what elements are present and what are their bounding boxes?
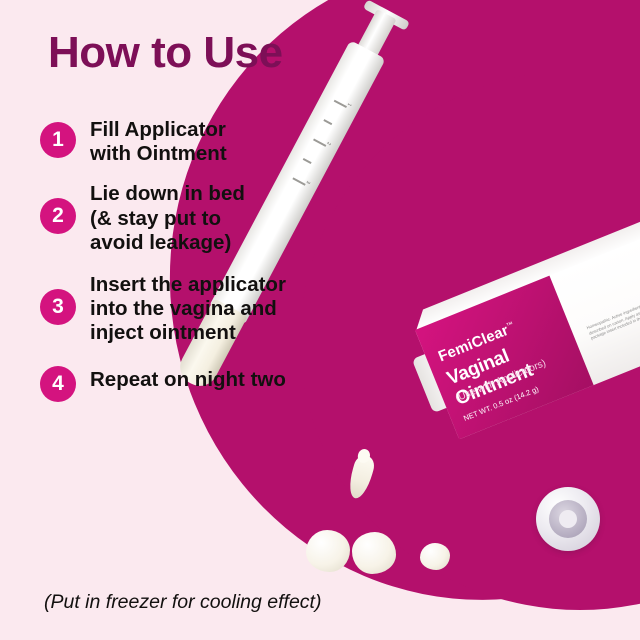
step-text: Repeat on night two — [90, 366, 286, 392]
page-title: How to Use — [48, 28, 283, 78]
step-text: Insert the applicator into the vagina an… — [90, 271, 286, 346]
list-item: 4 Repeat on night two — [40, 366, 370, 402]
step-text: Lie down in bed (& stay put to avoid lea… — [90, 180, 245, 255]
list-item: 2 Lie down in bed (& stay put to avoid l… — [40, 180, 370, 255]
step-number-badge: 4 — [40, 366, 76, 402]
steps-list: 1 Fill Applicator with Ointment 2 Lie do… — [40, 116, 370, 416]
list-item: 3 Insert the applicator into the vagina … — [40, 271, 370, 346]
step-number-badge: 2 — [40, 198, 76, 234]
carton-fine-print: Homeopathic. Active ingredients and uses… — [586, 290, 640, 342]
ointment-blob-1 — [306, 530, 350, 572]
step-number-badge: 3 — [40, 289, 76, 325]
poster-canvas: 1 2 3 FemiClear™ Vaginal Ointment (Use w… — [0, 0, 640, 640]
trademark-symbol: ™ — [506, 321, 515, 330]
ointment-blob-3 — [420, 543, 450, 570]
step-number-badge: 1 — [40, 122, 76, 158]
tube-cap-illustration — [536, 487, 600, 551]
tube-cap-center — [559, 510, 577, 528]
ointment-blob-2 — [352, 532, 396, 574]
footer-note: (Put in freezer for cooling effect) — [44, 591, 321, 614]
step-text: Fill Applicator with Ointment — [90, 116, 227, 166]
list-item: 1 Fill Applicator with Ointment — [40, 116, 370, 166]
